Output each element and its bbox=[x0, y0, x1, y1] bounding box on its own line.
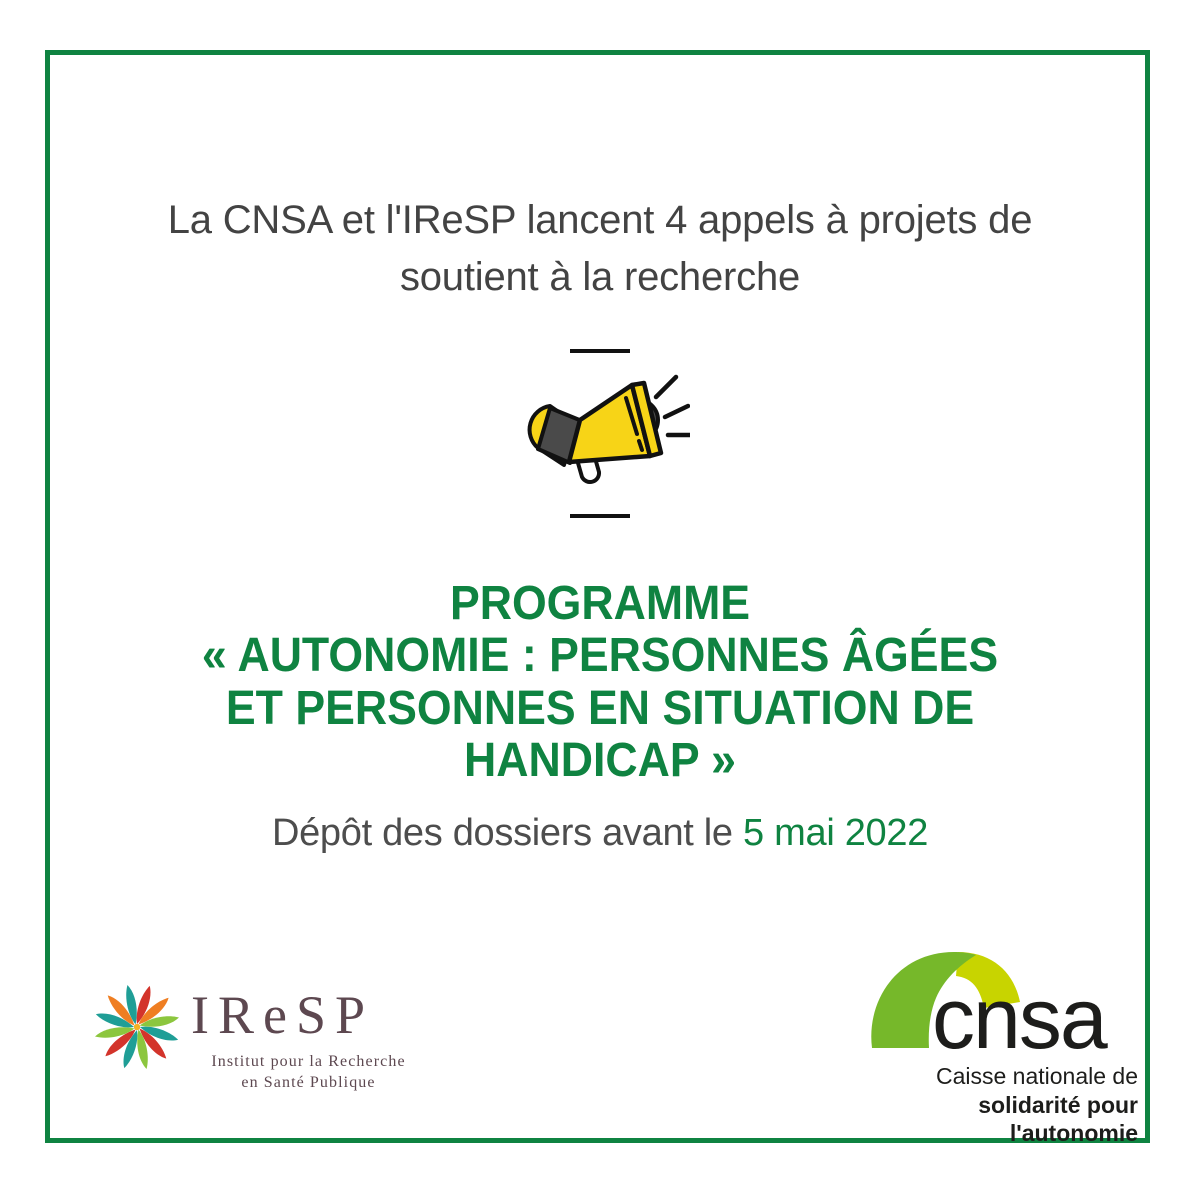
headline-line-2: soutient à la recherche bbox=[400, 255, 800, 299]
deadline-text: Dépôt des dossiers avant le 5 mai 2022 bbox=[150, 812, 1050, 855]
headline-line-1: La CNSA et l'IReSP lancent 4 appels à pr… bbox=[168, 198, 1033, 242]
cnsa-wordmark: cnsa bbox=[932, 976, 1106, 1062]
megaphone-icon bbox=[520, 372, 690, 502]
iresp-logo: IReSP Institut pour la Recherche en Sant… bbox=[88, 972, 428, 1097]
iresp-tagline-line-2: en Santé Publique bbox=[191, 1073, 426, 1094]
divider-dash-bottom bbox=[570, 514, 630, 518]
headline: La CNSA et l'IReSP lancent 4 appels à pr… bbox=[130, 192, 1070, 306]
programme-title: PROGRAMME « AUTONOMIE : PERSONNES ÂGÉES … bbox=[135, 578, 1065, 787]
cnsa-tagline-line-2: solidarité pour l'autonomie bbox=[862, 1091, 1138, 1148]
programme-line-4: HANDICAP » bbox=[135, 735, 1065, 787]
programme-line-3: ET PERSONNES EN SITUATION DE bbox=[135, 683, 1065, 735]
iresp-starburst-icon bbox=[88, 978, 186, 1076]
poster-canvas: La CNSA et l'IReSP lancent 4 appels à pr… bbox=[0, 0, 1200, 1200]
iresp-tagline: Institut pour la Recherche en Santé Publ… bbox=[191, 1052, 426, 1094]
cnsa-tagline-line-1: Caisse nationale de bbox=[862, 1062, 1138, 1091]
iresp-wordmark: IReSP bbox=[191, 988, 374, 1042]
iresp-tagline-line-1: Institut pour la Recherche bbox=[191, 1052, 426, 1073]
programme-line-1: PROGRAMME bbox=[135, 578, 1065, 630]
programme-line-2: « AUTONOMIE : PERSONNES ÂGÉES bbox=[135, 630, 1065, 682]
deadline-prefix: Dépôt des dossiers avant le bbox=[272, 812, 733, 854]
cnsa-logo: cnsa Caisse nationale de solidarité pour… bbox=[862, 944, 1142, 1116]
divider-dash-top bbox=[570, 349, 630, 353]
deadline-date: 5 mai 2022 bbox=[743, 812, 928, 854]
cnsa-tagline: Caisse nationale de solidarité pour l'au… bbox=[862, 1062, 1138, 1148]
